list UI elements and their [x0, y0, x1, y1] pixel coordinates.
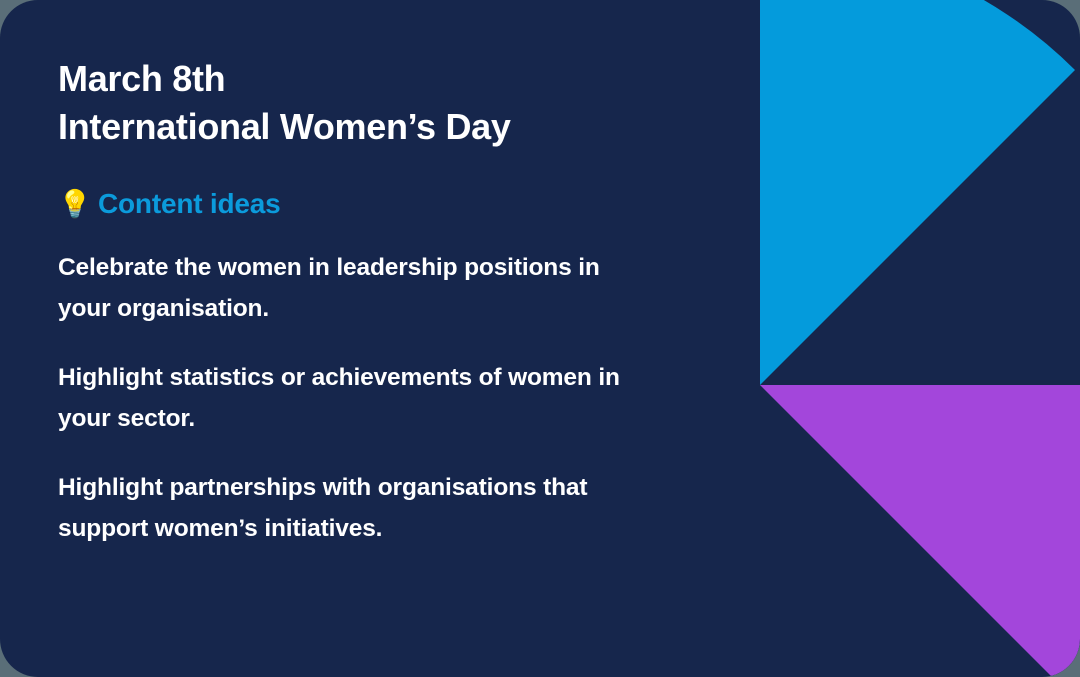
content-ideas-heading-label: Content ideas — [98, 187, 281, 221]
page-title-line-1: March 8th — [58, 55, 660, 103]
content-ideas-card: March 8th International Women’s Day 💡 Co… — [0, 0, 1080, 677]
content-ideas-heading: 💡 Content ideas — [58, 187, 660, 221]
card-content: March 8th International Women’s Day 💡 Co… — [0, 0, 660, 677]
blue-wedge-shape — [760, 0, 1075, 385]
list-item: Highlight statistics or achievements of … — [58, 357, 633, 439]
content-ideas-list: Celebrate the women in leadership positi… — [58, 247, 660, 549]
purple-wedge-shape — [760, 385, 1080, 677]
lightbulb-icon: 💡 — [58, 187, 88, 221]
list-item: Celebrate the women in leadership positi… — [58, 247, 633, 329]
list-item: Highlight partnerships with organisation… — [58, 467, 633, 549]
page-title-line-2: International Women’s Day — [58, 103, 660, 151]
page-title: March 8th International Women’s Day — [58, 55, 660, 151]
